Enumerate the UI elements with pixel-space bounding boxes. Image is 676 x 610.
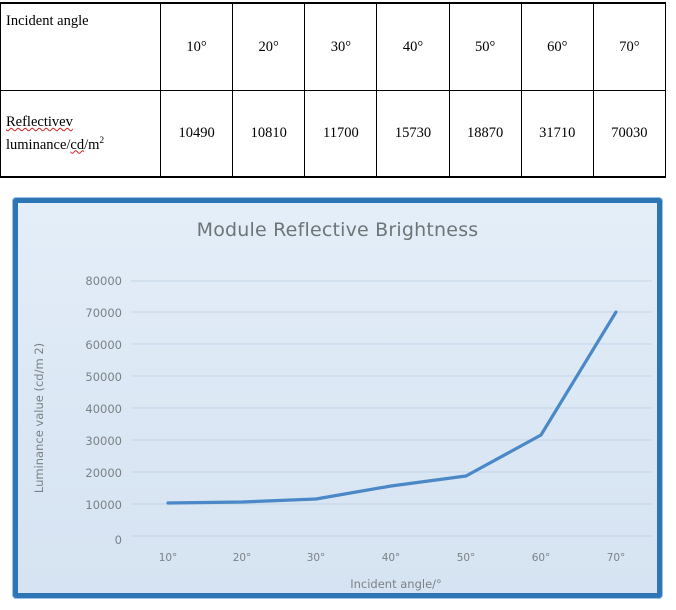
y-tick-30000: 30000 (85, 434, 122, 448)
luminance-cell-4: 15730 (377, 91, 449, 178)
row-label-reflective-luminance: Reflectivev luminance/cd/m2 (1, 91, 161, 178)
luminance-cell-3: 11700 (305, 91, 377, 178)
x-tick-70: 70° (607, 552, 626, 564)
y-tick-40000: 40000 (85, 402, 122, 416)
angle-cell-2: 20° (233, 3, 305, 91)
table-row: Reflectivev luminance/cd/m2 10490 10810 … (1, 91, 666, 178)
angle-cell-1: 10° (161, 3, 233, 91)
luminance-cell-1: 10490 (161, 91, 233, 178)
reflective-luminance-table: Incident angle 10° 20° 30° 40° 50° 60° 7… (0, 2, 666, 178)
x-tick-20: 20° (233, 552, 252, 564)
y-tick-50000: 50000 (85, 370, 122, 384)
luminance-cell-6: 31710 (521, 91, 593, 178)
angle-cell-3: 30° (305, 3, 377, 91)
x-tick-10: 10° (159, 552, 178, 564)
x-tick-60: 60° (532, 552, 551, 564)
angle-cell-7: 70° (593, 3, 665, 91)
y-tick-10000: 10000 (85, 498, 122, 512)
x-axis-ticks: 10° 20° 30° 40° 50° 60° 70° (159, 552, 626, 564)
y-tick-70000: 70000 (85, 306, 122, 320)
x-tick-30: 30° (307, 552, 326, 564)
chart-inner: Module Reflective Brightness Luminance v… (18, 203, 657, 593)
luminance-cell-7: 70030 (593, 91, 665, 178)
y-axis-ticks: 80000 70000 60000 50000 40000 30000 2000… (85, 274, 122, 547)
x-axis-title: Incident angle/° (350, 577, 442, 591)
x-tick-40: 40° (382, 552, 401, 564)
row-label-line1: Reflectivev (6, 114, 73, 130)
angle-cell-6: 60° (521, 3, 593, 91)
angle-cell-4: 40° (377, 3, 449, 91)
row-label-line2-prefix: luminance/ (6, 137, 70, 153)
y-tick-20000: 20000 (85, 466, 122, 480)
chart-plot-svg: Luminance value (cd/m 2) 80000 70000 600… (18, 203, 657, 593)
gridlines (131, 281, 652, 536)
y-tick-0: 0 (115, 533, 122, 547)
y-axis-title: Luminance value (cd/m 2) (32, 343, 46, 493)
luminance-cell-2: 10810 (233, 91, 305, 178)
chart-card: Module Reflective Brightness Luminance v… (13, 198, 662, 598)
table-row: Incident angle 10° 20° 30° 40° 50° 60° 7… (1, 3, 666, 91)
y-tick-60000: 60000 (85, 338, 122, 352)
x-tick-50: 50° (457, 552, 476, 564)
y-tick-80000: 80000 (85, 274, 122, 288)
row-label-line2-cd: cd (70, 137, 84, 153)
luminance-cell-5: 18870 (449, 91, 521, 178)
data-table-container: Incident angle 10° 20° 30° 40° 50° 60° 7… (0, 2, 666, 178)
row-label-superscript: 2 (99, 136, 104, 146)
row-label-line2-suffix: /m (84, 137, 99, 153)
row-label-incident-angle: Incident angle (1, 3, 161, 91)
angle-cell-5: 50° (449, 3, 521, 91)
